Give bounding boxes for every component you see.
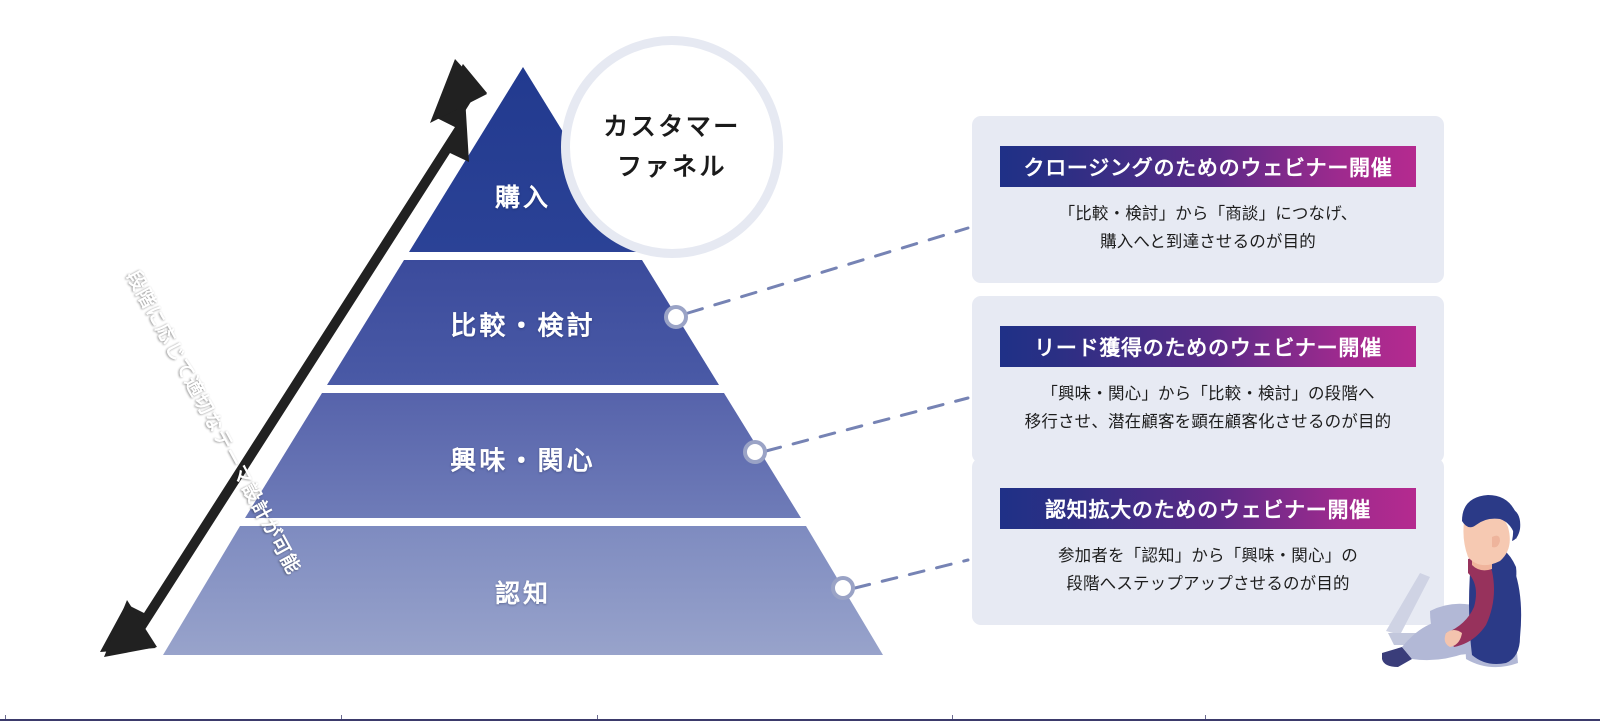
card-body-line: 段階へステップアップさせるのが目的 [994, 570, 1422, 598]
badge-line-1: カスタマー [603, 107, 741, 148]
info-card-lead-body: 「興味・関心」から「比較・検討」の段階へ 移行させ、潜在顧客を顕在顧客化させるの… [994, 380, 1422, 437]
funnel-infographic: 購入 比較・検討 興味・関心 認知 段階に応じて適切なテーマ設計が可能 カスタマ… [0, 0, 1600, 727]
info-card-awareness-header: 認知拡大のためのウェビナー開催 [1000, 488, 1416, 529]
info-card-closing-body: 「比較・検討」から「商談」につなげ、 購入へと到達させるのが目的 [994, 200, 1422, 257]
footer-divider [0, 719, 1600, 721]
info-card-closing[interactable]: クロージングのためのウェビナー開催 「比較・検討」から「商談」につなげ、 購入へ… [972, 116, 1444, 283]
pyramid-tier-interest [245, 393, 801, 518]
pyramid-tier-awareness [163, 526, 883, 655]
card-body-line: 購入へと到達させるのが目的 [994, 228, 1422, 256]
footer-tick [597, 715, 598, 721]
person-with-laptop-illustration [1368, 487, 1548, 679]
card-body-line: 「興味・関心」から「比較・検討」の段階へ [994, 380, 1422, 408]
footer-tick [952, 715, 953, 721]
card-body-line: 参加者を「認知」から「興味・関心」の [994, 542, 1422, 570]
footer-tick [341, 715, 342, 721]
card-body-line: 「比較・検討」から「商談」につなげ、 [994, 200, 1422, 228]
pyramid-tier-comparison [327, 260, 719, 385]
customer-funnel-badge-label: カスタマー ファネル [561, 36, 783, 258]
info-card-lead[interactable]: リード獲得のためのウェビナー開催 「興味・関心」から「比較・検討」の段階へ 移行… [972, 296, 1444, 463]
info-card-lead-header: リード獲得のためのウェビナー開催 [1000, 326, 1416, 367]
pyramid-diagram: 購入 比較・検討 興味・関心 認知 段階に応じて適切なテーマ設計が可能 カスタマ… [0, 0, 960, 700]
badge-line-2: ファネル [617, 147, 727, 188]
footer-tick [1205, 715, 1206, 721]
footer-tick [5, 715, 6, 721]
pyramid-shapes [0, 0, 960, 700]
card-body-line: 移行させ、潜在顧客を顕在顧客化させるのが目的 [994, 408, 1422, 436]
info-card-awareness-body: 参加者を「認知」から「興味・関心」の 段階へステップアップさせるのが目的 [994, 542, 1422, 599]
info-card-closing-header: クロージングのためのウェビナー開催 [1000, 146, 1416, 187]
